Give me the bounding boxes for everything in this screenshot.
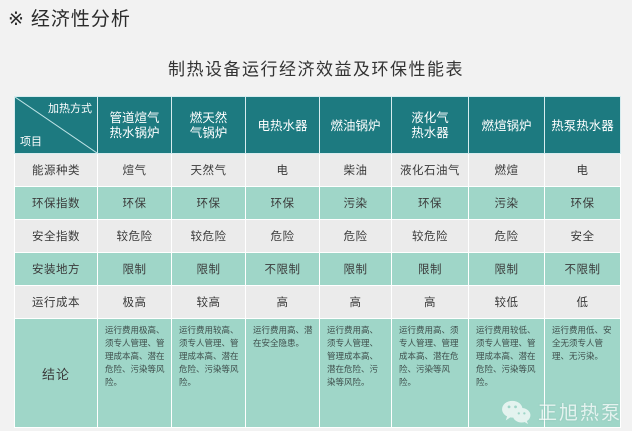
cell-r4-c3: 高 [320,286,392,319]
cell-r1-c4: 环保 [392,187,469,220]
cell-r3-c0: 限制 [98,253,172,286]
row-label-3: 安装地方 [15,253,98,286]
corner-bottom-label: 项目 [20,135,42,148]
conclusion-cell-1: 运行费用较高、须专人管理、管理成本高、潜在危险、污染等风险。 [172,319,246,428]
cell-r1-c5: 污染 [469,187,545,220]
cell-r0-c5: 燃煊 [469,154,545,187]
cell-r0-c4: 液化石油气 [392,154,469,187]
row-label-2: 安全指数 [15,220,98,253]
column-header-3: 燃油锅炉 [320,97,392,154]
cell-r2-c1: 较危险 [172,220,246,253]
cell-r1-c2: 环保 [246,187,320,220]
cell-r2-c0: 较危险 [98,220,172,253]
section-heading: ※经济性分析 [8,4,131,31]
corner-top-label: 加热方式 [48,102,92,115]
cell-r0-c3: 柴油 [320,154,392,187]
table-header-row: 加热方式项目管道煊气热水锅炉燃天然气锅炉电热水器燃油锅炉液化气热水器燃煊锅炉热泵… [15,97,621,154]
conclusion-cell-3: 运行费用高、须专人管理、管理成本高、潜在危险、污染等风险。 [320,319,392,428]
cell-r1-c0: 环保 [98,187,172,220]
cell-r4-c2: 高 [246,286,320,319]
conclusion-cell-5: 运行费用较低、须专人管理、管理成本高、潜在危险、污染等风险。 [469,319,545,428]
cell-r1-c3: 污染 [320,187,392,220]
cell-r3-c3: 限制 [320,253,392,286]
conclusion-cell-2: 运行费用高、潜在安全隐患。 [246,319,320,428]
cell-r3-c1: 限制 [172,253,246,286]
column-header-2: 电热水器 [246,97,320,154]
cell-r3-c2: 不限制 [246,253,320,286]
cell-r2-c4: 较危险 [392,220,469,253]
row-label-0: 能源种类 [15,154,98,187]
cell-r4-c0: 极高 [98,286,172,319]
cell-r4-c6: 低 [545,286,621,319]
cell-r1-c6: 环保 [545,187,621,220]
cell-r0-c2: 电 [246,154,320,187]
column-header-5: 燃煊锅炉 [469,97,545,154]
page-root: ※经济性分析 制热设备运行经济效益及环保性能表 加热方式项目管道煊气热水锅炉燃天… [0,0,632,431]
column-header-6: 热泵热水器 [545,97,621,154]
column-header-1: 燃天然气锅炉 [172,97,246,154]
table-row: 环保指数环保环保环保污染环保污染环保 [15,187,621,220]
cell-r4-c5: 较低 [469,286,545,319]
cell-r3-c5: 限制 [469,253,545,286]
conclusion-cell-0: 运行费用极高、须专人管理、管理成本高、潜在危险、污染等风险。 [98,319,172,428]
conclusion-row: 结论运行费用极高、须专人管理、管理成本高、潜在危险、污染等风险。运行费用较高、须… [15,319,621,428]
section-heading-text: 经济性分析 [31,8,131,30]
cell-r2-c5: 危险 [469,220,545,253]
header-corner-cell: 加热方式项目 [15,97,98,154]
conclusion-cell-4: 运行费用高、须专人管理、管理成本高、潜在危险、污染等风险。 [392,319,469,428]
conclusion-label: 结论 [15,319,98,428]
table-row: 安装地方限制限制不限制限制限制限制不限制 [15,253,621,286]
cell-r3-c6: 不限制 [545,253,621,286]
cell-r2-c6: 安全 [545,220,621,253]
reference-mark-icon: ※ [8,8,25,30]
table-row: 安全指数较危险较危险危险危险较危险危险安全 [15,220,621,253]
performance-table: 加热方式项目管道煊气热水锅炉燃天然气锅炉电热水器燃油锅炉液化气热水器燃煊锅炉热泵… [14,96,621,428]
cell-r4-c4: 高 [392,286,469,319]
cell-r2-c3: 危险 [320,220,392,253]
cell-r4-c1: 较高 [172,286,246,319]
row-label-1: 环保指数 [15,187,98,220]
cell-r1-c1: 环保 [172,187,246,220]
cell-r2-c2: 危险 [246,220,320,253]
performance-table-wrap: 加热方式项目管道煊气热水锅炉燃天然气锅炉电热水器燃油锅炉液化气热水器燃煊锅炉热泵… [14,96,620,428]
table-title: 制热设备运行经济效益及环保性能表 [0,55,632,80]
cell-r3-c4: 限制 [392,253,469,286]
table-body: 加热方式项目管道煊气热水锅炉燃天然气锅炉电热水器燃油锅炉液化气热水器燃煊锅炉热泵… [15,97,621,428]
column-header-0: 管道煊气热水锅炉 [98,97,172,154]
conclusion-cell-6: 运行费用低、安全无须专人管理、无污染。 [545,319,621,428]
table-row: 能源种类煊气天然气电柴油液化石油气燃煊电 [15,154,621,187]
table-row: 运行成本极高较高高高高较低低 [15,286,621,319]
row-label-4: 运行成本 [15,286,98,319]
column-header-4: 液化气热水器 [392,97,469,154]
cell-r0-c6: 电 [545,154,621,187]
cell-r0-c0: 煊气 [98,154,172,187]
cell-r0-c1: 天然气 [172,154,246,187]
